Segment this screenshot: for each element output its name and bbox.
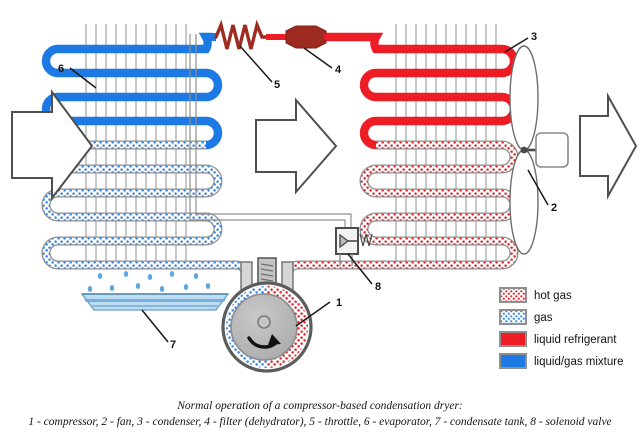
diagram-caption: Normal operation of a compressor-based c… <box>0 398 640 430</box>
air-middle-arrow <box>256 100 336 192</box>
legend-item-liquid-refrigerant: liquid refrigerant <box>500 332 617 346</box>
legend-label-liquid-refrigerant: liquid refrigerant <box>534 334 617 346</box>
legend-item-liquid-gas-mixture: liquid/gas mixture <box>500 354 623 368</box>
caption-line-1: Normal operation of a compressor-based c… <box>0 398 640 414</box>
legend-item-hot-gas: hot gas <box>500 288 572 302</box>
legend-label-liquid-gas-mixture: liquid/gas mixture <box>534 356 623 368</box>
legend-label-hot-gas: hot gas <box>534 290 572 302</box>
fan <box>510 46 568 254</box>
callout-3: 3 <box>531 31 537 43</box>
filter-dehydrator <box>286 26 326 48</box>
legend: hot gas gas liquid refrigerant liquid/ga… <box>500 288 623 368</box>
air-inlet-arrow <box>12 92 92 198</box>
callout-1: 1 <box>336 297 342 309</box>
diagram-canvas: 1 2 3 4 5 6 7 8 hot gas gas liquid refri… <box>0 0 640 444</box>
compressor <box>223 258 311 371</box>
discharge-line-hotgas <box>288 265 376 288</box>
callout-4: 4 <box>335 64 342 76</box>
condensate-tank <box>82 294 228 310</box>
callout-5: 5 <box>274 79 280 91</box>
condenser-coil-hotgas-section <box>364 145 514 265</box>
caption-line-2: 1 - compressor, 2 - fan, 3 - condenser, … <box>0 414 640 430</box>
air-outlet-arrow <box>580 96 636 196</box>
callout-2: 2 <box>551 202 557 214</box>
suction-line-gas <box>206 265 246 288</box>
callout-7: 7 <box>170 339 176 351</box>
legend-item-gas: gas <box>500 310 553 324</box>
legend-label-gas: gas <box>534 312 553 324</box>
dryer-diagram: 1 2 3 4 5 6 7 8 hot gas gas liquid refri… <box>0 0 640 444</box>
callout-8: 8 <box>375 281 381 293</box>
throttle <box>216 25 268 49</box>
callout-6: 6 <box>58 63 64 75</box>
condensate-droplets <box>88 271 210 292</box>
